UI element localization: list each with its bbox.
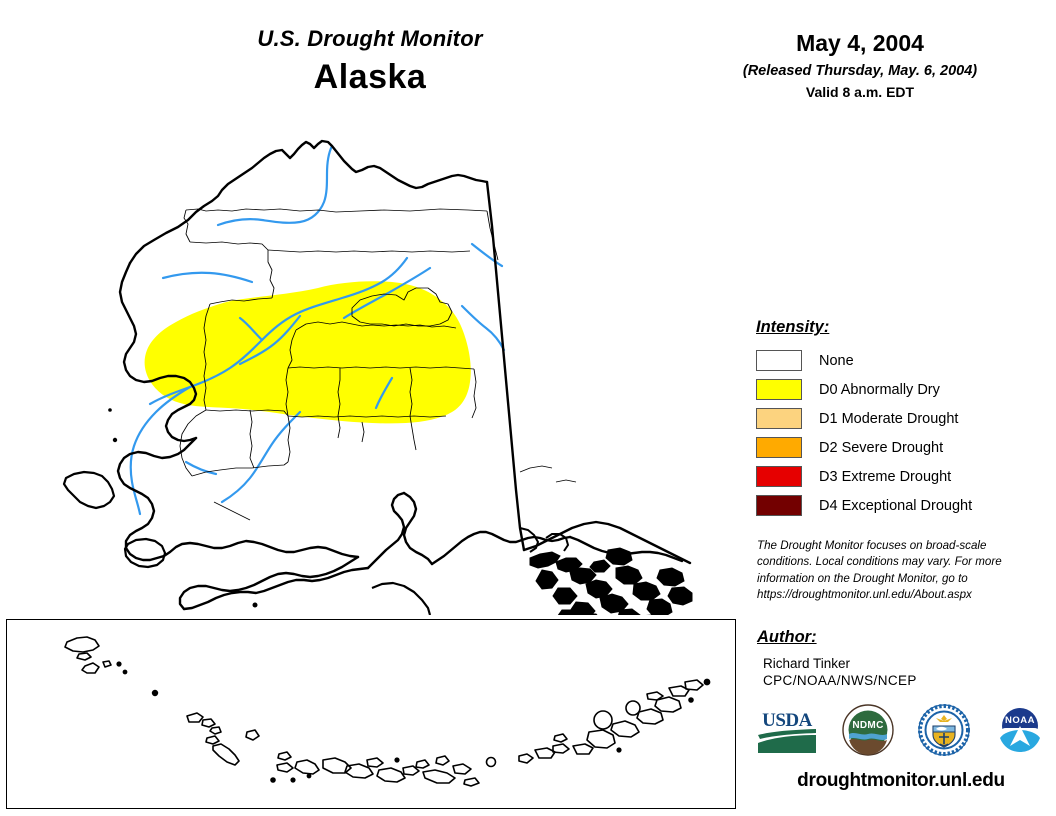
legend-label-d2: D2 Severe Drought (819, 440, 943, 456)
islands-layer (64, 408, 430, 615)
legend: Intensity: None D0 Abnormally Dry D1 Mod… (756, 318, 1046, 520)
legend-label-d4: D4 Exceptional Drought (819, 498, 972, 514)
legend-label-d0: D0 Abnormally Dry (819, 382, 940, 398)
drought-monitor-page: U.S. Drought Monitor Alaska May 4, 2004 … (0, 0, 1056, 816)
noaa-logo[interactable]: NOAA (994, 704, 1046, 761)
map-date: May 4, 2004 (700, 30, 1020, 57)
valid-time: Valid 8 a.m. EDT (700, 84, 1020, 100)
legend-swatch-d2 (756, 437, 802, 458)
ndmc-logo[interactable]: NDMC (842, 704, 894, 761)
nws-logo[interactable] (918, 704, 970, 761)
svg-text:NDMC: NDMC (852, 720, 883, 731)
legend-swatch-d3 (756, 466, 802, 487)
legend-title: Intensity: (756, 318, 1046, 337)
legend-swatch-none (756, 350, 802, 371)
legend-label-none: None (819, 353, 854, 369)
region-title: Alaska (140, 58, 600, 97)
release-date: (Released Thursday, May. 6, 2004) (700, 63, 1020, 79)
disclaimer-text: The Drought Monitor focuses on broad-sca… (757, 538, 1025, 604)
legend-item-d1[interactable]: D1 Moderate Drought (756, 404, 1046, 433)
legend-item-d2[interactable]: D2 Severe Drought (756, 433, 1046, 462)
southeast-archipelago-layer (530, 548, 692, 615)
page-title: U.S. Drought Monitor (140, 26, 600, 52)
legend-label-d3: D3 Extreme Drought (819, 469, 951, 485)
legend-item-none[interactable]: None (756, 346, 1046, 375)
svg-text:NOAA: NOAA (1005, 715, 1035, 726)
legend-item-d0[interactable]: D0 Abnormally Dry (756, 375, 1046, 404)
aleutian-islands-inset[interactable] (6, 619, 736, 809)
agency-logos: USDA NDMC (756, 703, 1046, 761)
legend-swatch-d1 (756, 408, 802, 429)
alaska-map[interactable] (0, 110, 740, 615)
map-layers (64, 141, 692, 615)
legend-swatch-d4 (756, 495, 802, 516)
legend-swatch-d0 (756, 379, 802, 400)
author-title: Author: (757, 628, 1037, 647)
title-block: U.S. Drought Monitor Alaska (140, 26, 600, 97)
date-block: May 4, 2004 (Released Thursday, May. 6, … (700, 30, 1020, 100)
legend-label-d1: D1 Moderate Drought (819, 411, 958, 427)
svg-text:USDA: USDA (762, 710, 813, 731)
legend-item-d3[interactable]: D3 Extreme Drought (756, 462, 1046, 491)
usda-logo[interactable]: USDA (756, 705, 818, 760)
legend-item-d4[interactable]: D4 Exceptional Drought (756, 491, 1046, 520)
author-block: Author: Richard Tinker CPC/NOAA/NWS/NCEP (757, 628, 1037, 688)
site-url[interactable]: droughtmonitor.unl.edu (756, 770, 1046, 792)
aleutian-chain (65, 637, 710, 786)
author-organization: CPC/NOAA/NWS/NCEP (763, 673, 1037, 688)
author-name: Richard Tinker (763, 656, 1037, 671)
